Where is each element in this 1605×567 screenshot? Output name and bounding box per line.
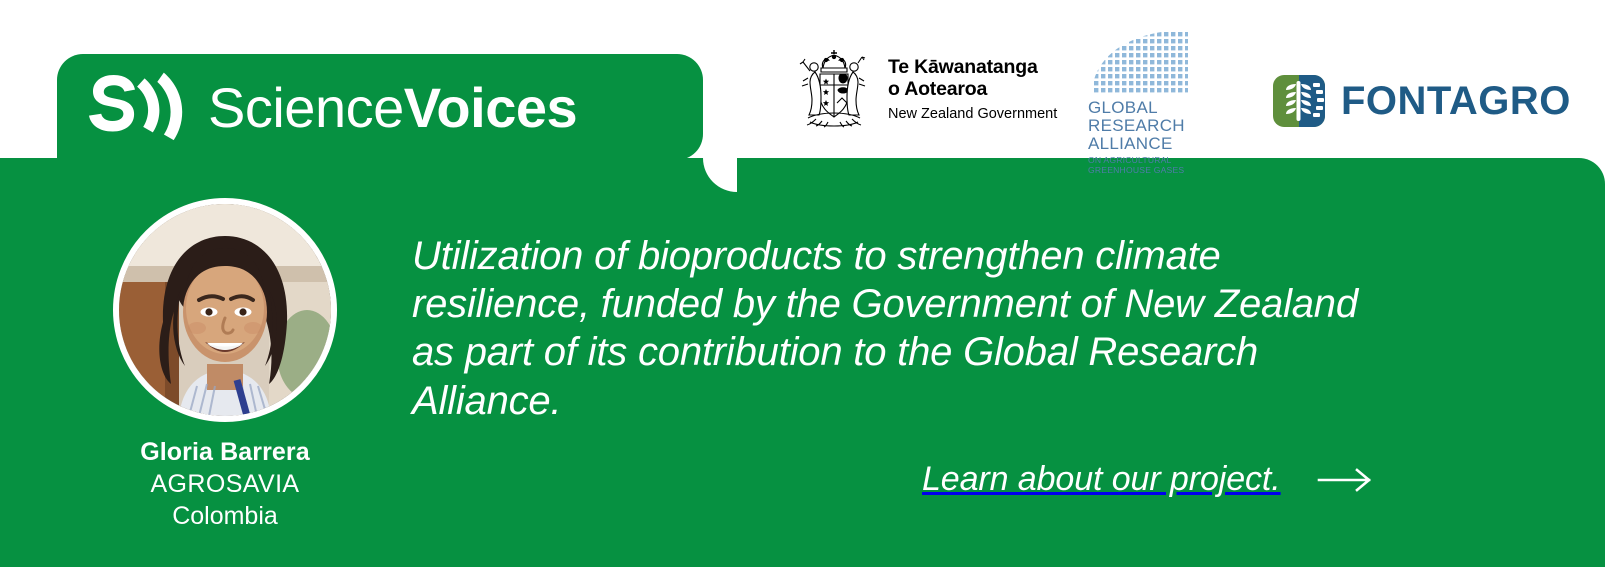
gra-subtitle-line-1: ON AGRICULTURAL	[1088, 155, 1206, 165]
speaker-name: Gloria Barrera	[100, 438, 350, 468]
gra-wordmark: GLOBAL RESEARCH ALLIANCE	[1088, 99, 1206, 152]
nz-maori-line-1: Te Kāwanatanga	[888, 57, 1057, 79]
speaker-block: Gloria Barrera AGROSAVIA Colombia	[100, 198, 350, 533]
partner-logos: Te Kāwanatanga o Aotearoa New Zealand Go…	[788, 20, 1548, 160]
nz-english-line: New Zealand Government	[888, 106, 1057, 123]
science-voices-banner: ScienceVoices	[0, 0, 1605, 567]
avatar	[113, 198, 337, 422]
learn-about-project-link[interactable]: Learn about our project.	[922, 460, 1373, 499]
science-voices-wordmark: ScienceVoices	[208, 80, 577, 136]
partner-logo-global-research-alliance[interactable]: GLOBAL RESEARCH ALLIANCE ON AGRICULTURAL…	[1088, 30, 1206, 175]
partner-logo-new-zealand-government[interactable]: Te Kāwanatanga o Aotearoa New Zealand Go…	[788, 48, 1057, 132]
quote-text: Utilization of bioproducts to strengthen…	[412, 232, 1402, 425]
gra-subtitle: ON AGRICULTURAL GREENHOUSE GASES	[1088, 155, 1206, 175]
brand-name-bold: Voices	[404, 76, 577, 139]
science-voices-signal-s-icon	[88, 72, 184, 144]
science-voices-logo[interactable]: ScienceVoices	[88, 72, 577, 144]
gra-line-3: ALLIANCE	[1088, 135, 1206, 152]
cta-label: Learn about our project.	[922, 460, 1281, 499]
speaker-organization: AGROSAVIA	[100, 468, 350, 501]
arrow-right-icon	[1317, 467, 1373, 493]
gra-subtitle-line-2: GREENHOUSE GASES	[1088, 165, 1206, 175]
gra-line-1: GLOBAL	[1088, 99, 1206, 116]
nz-coat-of-arms-icon	[788, 48, 880, 132]
speaker-country: Colombia	[100, 500, 350, 533]
brand-name-light: Science	[208, 76, 404, 139]
gra-dotted-dome-icon	[1092, 30, 1192, 98]
nz-logo-text: Te Kāwanatanga o Aotearoa New Zealand Go…	[888, 57, 1057, 122]
partner-logo-fontagro[interactable]: FONTAGRO	[1273, 75, 1571, 127]
speaker-portrait-photo	[119, 204, 331, 416]
nz-maori-line-2: o Aotearoa	[888, 79, 1057, 101]
fontagro-wheat-gear-icon	[1273, 75, 1325, 127]
gra-line-2: RESEARCH	[1088, 117, 1206, 134]
tab-notch-decoration	[703, 158, 737, 192]
fontagro-wordmark: FONTAGRO	[1341, 81, 1571, 121]
